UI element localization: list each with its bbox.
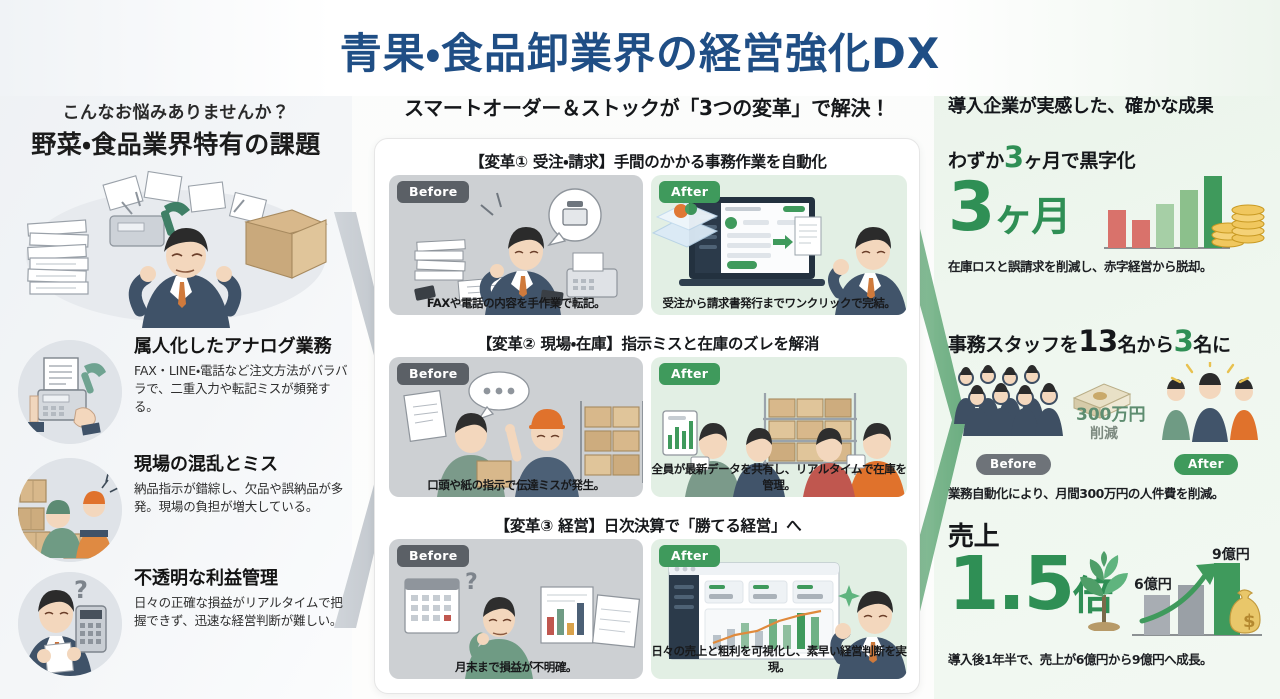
issue-text: 不透明な利益管理 日々の正確な損益がリアルタイムで把握できず、迅速な経営判断が難… bbox=[134, 568, 348, 630]
after-tag: After bbox=[659, 545, 720, 567]
after-box: After bbox=[651, 539, 907, 679]
result-lead: 事務スタッフを13名から3名に bbox=[948, 324, 1268, 358]
issue-desc: 日々の正確な損益がリアルタイムで把握できず、迅速な経営判断が難しい。 bbox=[134, 594, 348, 630]
before-caption: 月末まで損益が不明確。 bbox=[389, 659, 643, 675]
result-item-staff: 事務スタッフを13名から3名に bbox=[948, 324, 1268, 482]
results-column: 導入企業が実感した、確かな成果 わずか3ヶ月で黒字化 3ヶ月 bbox=[934, 92, 1280, 699]
right-heading: 導入企業が実感した、確かな成果 bbox=[948, 92, 1280, 118]
svg-text:?: ? bbox=[465, 570, 478, 595]
result-mega-number: 3ヶ月 bbox=[948, 176, 1069, 241]
issue-item: 属人化したアナログ業務 FAX・LINE・電話など注文方法がバラバラで、二重入力… bbox=[18, 334, 348, 452]
result-staff-after-count: 3 bbox=[1174, 324, 1194, 358]
after-caption: 受注から請求書発行までワンクリックで完結。 bbox=[651, 295, 907, 311]
cardboard-box-icon bbox=[246, 210, 326, 278]
transformation-panel-1: 【変革① 受注・請求】手間のかかる事務作業を自動化 Before bbox=[389, 149, 907, 319]
result-item-breakeven: わずか3ヶ月で黒字化 3ヶ月 bbox=[948, 140, 1268, 278]
solutions-column: スマートオーダー＆ストックが「3つの変革」で解決！ 【変革① 受注・請求】手間の… bbox=[352, 92, 942, 699]
issue-text: 属人化したアナログ業務 FAX・LINE・電話など注文方法がバラバラで、二重入力… bbox=[134, 336, 348, 416]
mega-value: 3 bbox=[948, 168, 993, 247]
transformation-panel-3: 【変革③ 経営】日次決算で「勝てる経営」へ Before bbox=[389, 513, 907, 685]
left-heading: 野菜・食品業界特有の課題 bbox=[0, 125, 352, 161]
bar-chart-coins-icon bbox=[1100, 174, 1268, 256]
after-tag: After bbox=[659, 363, 720, 385]
fax-machine-icon bbox=[18, 340, 122, 444]
savings-amount: 300万円 bbox=[1076, 405, 1146, 425]
issue-desc: FAX・LINE・電話など注文方法がバラバラで、二重入力や転記ミスが頻発する。 bbox=[134, 362, 348, 416]
result-staff-before-count: 13 bbox=[1078, 324, 1118, 358]
after-caption: 全員が最新データを共有し、リアルタイムで在庫を管理。 bbox=[651, 461, 907, 493]
mega-value: 1.5 bbox=[948, 541, 1073, 627]
savings-word: 削減 bbox=[1090, 425, 1118, 442]
manager-calculator-question-icon: ? bbox=[18, 572, 122, 676]
result-lead-post: 名に bbox=[1193, 334, 1230, 356]
issue-title: 属人化したアナログ業務 bbox=[134, 336, 348, 359]
bar-to-label: 9億円 bbox=[1212, 547, 1250, 563]
before-after-row: Before bbox=[389, 539, 907, 679]
before-box: Before bbox=[389, 539, 643, 679]
sales-growth-bar-chart: 6億円 9億円 $ bbox=[1130, 547, 1270, 647]
issue-item: ? 不透明な利益管理 日々の正確な損益がリアルタイムで把握できず、迅速な経営判断… bbox=[18, 566, 348, 696]
center-heading: スマートオーダー＆ストックが「3つの変革」で解決！ bbox=[352, 92, 942, 121]
after-tag: After bbox=[659, 181, 720, 203]
issue-text: 現場の混乱とミス 納品指示が錯綜し、欠品や誤納品が多発。現場の負担が増大している… bbox=[134, 454, 348, 516]
mega-suffix: ヶ月 bbox=[993, 194, 1069, 240]
after-caption: 日々の売上と粗利を可視化し、素早い経営判断を実現。 bbox=[651, 643, 907, 675]
issue-title: 現場の混乱とミス bbox=[134, 454, 348, 477]
result-lead-pre: 事務スタッフを bbox=[948, 334, 1078, 356]
after-pill: After bbox=[1174, 454, 1238, 475]
warehouse-workers-boxes-icon bbox=[18, 458, 122, 562]
panel-title: 【変革① 受注・請求】手間のかかる事務作業を自動化 bbox=[389, 149, 907, 175]
before-after-row: Before bbox=[389, 357, 907, 497]
before-tag: Before bbox=[397, 363, 469, 385]
sprout-growth-icon bbox=[1074, 551, 1134, 631]
svg-text:?: ? bbox=[74, 576, 88, 604]
result-lead-mid: 名から bbox=[1118, 334, 1174, 356]
issue-title: 不透明な利益管理 bbox=[134, 568, 348, 591]
result-item-sales: 売上 1.5倍 bbox=[948, 516, 1268, 690]
panel-title: 【変革② 現場・在庫】指示ミスと在庫のズレを解消 bbox=[389, 331, 907, 357]
staff-crowd-cash-icon: 300万円 削減 bbox=[948, 362, 1268, 454]
issue-item: 現場の混乱とミス 納品指示が錯綜し、欠品や誤納品が多発。現場の負担が増大している… bbox=[18, 452, 348, 570]
left-kicker: こんなお悩みありませんか？ bbox=[0, 98, 352, 123]
result-footer: 在庫ロスと誤請求を削減し、赤字経営から脱却。 bbox=[948, 256, 1268, 275]
solutions-card: 【変革① 受注・請求】手間のかかる事務作業を自動化 Before bbox=[374, 138, 920, 694]
stressed-office-worker-illustration bbox=[14, 160, 338, 328]
bar-from-label: 6億円 bbox=[1134, 576, 1172, 593]
result-lead-post: ヶ月で黒字化 bbox=[1024, 150, 1136, 172]
infographic-page: 青果・食品卸業界の経営強化DX こんなお悩みありませんか？ 野菜・食品業界特有の… bbox=[0, 0, 1280, 699]
result-footer: 導入後1年半で、売上が6億円から9億円へ成長。 bbox=[948, 649, 1268, 668]
before-box: Before bbox=[389, 175, 643, 315]
before-tag: Before bbox=[397, 181, 469, 203]
before-caption: FAXや電話の内容を手作業で転記。 bbox=[389, 295, 643, 311]
before-box: Before bbox=[389, 357, 643, 497]
before-tag: Before bbox=[397, 545, 469, 567]
result-footer: 業務自動化により、月間300万円の人件費を削減。 bbox=[948, 483, 1268, 502]
issue-desc: 納品指示が錯綜し、欠品や誤納品が多発。現場の負担が増大している。 bbox=[134, 480, 348, 516]
panel-title: 【変革③ 経営】日次決算で「勝てる経営」へ bbox=[389, 513, 907, 539]
before-after-row: Before bbox=[389, 175, 907, 315]
before-caption: 口頭や紙の指示で伝達ミスが発生。 bbox=[389, 477, 643, 493]
problems-column: こんなお悩みありませんか？ 野菜・食品業界特有の課題 bbox=[0, 98, 352, 699]
left-heading-block: こんなお悩みありませんか？ 野菜・食品業界特有の課題 bbox=[0, 98, 352, 161]
page-title: 青果・食品卸業界の経営強化DX bbox=[0, 20, 1280, 81]
after-box: After bbox=[651, 175, 907, 315]
before-pill: Before bbox=[976, 454, 1051, 475]
transformation-panel-2: 【変革② 現場・在庫】指示ミスと在庫のズレを解消 Before bbox=[389, 331, 907, 499]
result-lead-number: 3 bbox=[1004, 140, 1024, 174]
result-lead: わずか3ヶ月で黒字化 bbox=[948, 140, 1268, 174]
after-box: After bbox=[651, 357, 907, 497]
svg-text:$: $ bbox=[1243, 611, 1256, 632]
